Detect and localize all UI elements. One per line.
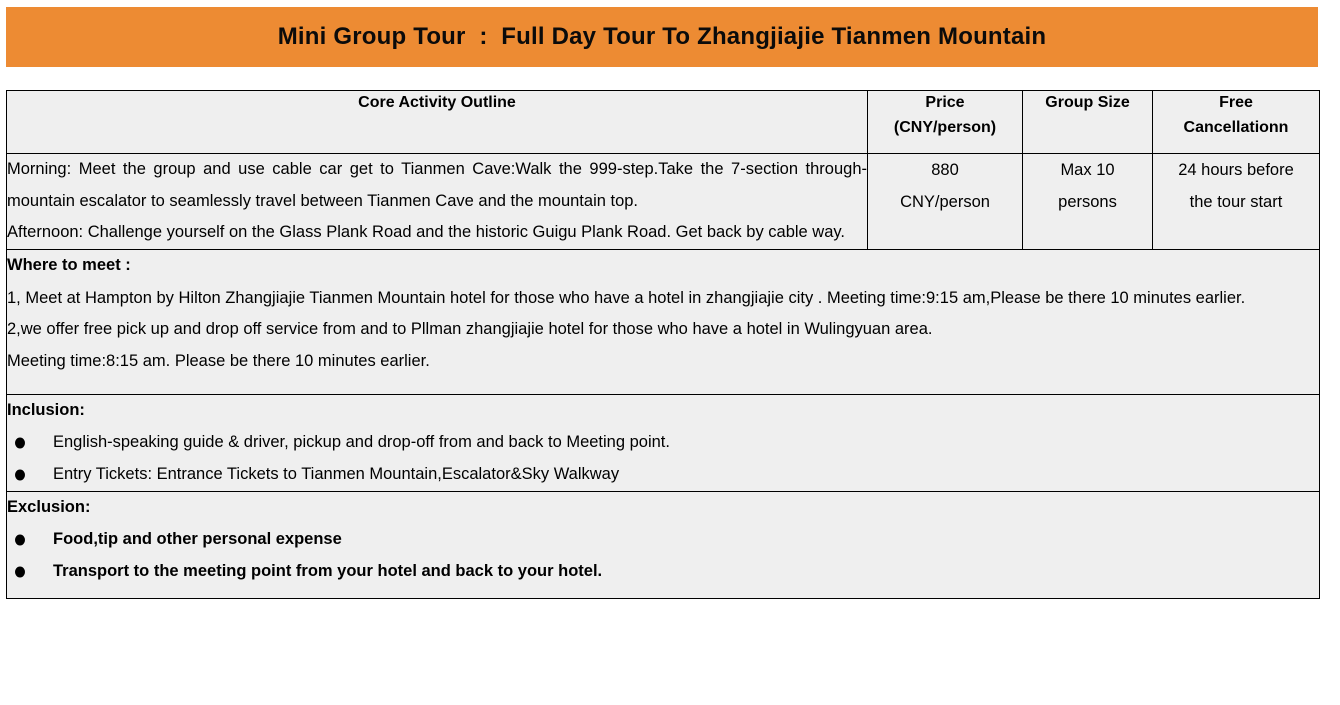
cell-where-to-meet: Where to meet : 1, Meet at Hampton by Hi…: [7, 250, 1320, 395]
cell-core-activity-outline: Morning: Meet the group and use cable ca…: [7, 154, 868, 250]
exclusion-row: Exclusion: Food,tip and other personal e…: [7, 491, 1320, 598]
page-title: Mini Group Tour : Full Day Tour To Zhang…: [278, 23, 1047, 51]
header-price: Price (CNY/person): [868, 91, 1023, 154]
inclusion-title: Inclusion:: [7, 395, 1319, 426]
cell-group-size: Max 10 persons: [1023, 154, 1153, 250]
header-free-cancellation: Free Cancellationn: [1153, 91, 1320, 154]
cell-price: 880 CNY/person: [868, 154, 1023, 250]
itinerary-afternoon: Afternoon: Challenge yourself on the Gla…: [7, 217, 867, 249]
list-item: Entry Tickets: Entrance Tickets to Tianm…: [7, 459, 1319, 491]
list-item: Food,tip and other personal expense: [7, 524, 1319, 556]
table-header-row: Core Activity Outline Price (CNY/person)…: [7, 91, 1320, 154]
header-core-activity-outline: Core Activity Outline: [7, 91, 868, 154]
inclusion-list: English-speaking guide & driver, pickup …: [7, 427, 1319, 491]
inclusion-row: Inclusion: English-speaking guide & driv…: [7, 394, 1320, 491]
header-group-size: Group Size: [1023, 91, 1153, 154]
inclusion-item-text: Entry Tickets: Entrance Tickets to Tianm…: [53, 465, 619, 483]
tour-details-table: Core Activity Outline Price (CNY/person)…: [6, 90, 1320, 599]
table-row: Morning: Meet the group and use cable ca…: [7, 154, 1320, 250]
where-to-meet-line-3: Meeting time:8:15 am. Please be there 10…: [7, 346, 1319, 378]
where-to-meet-line-1: 1, Meet at Hampton by Hilton Zhangjiajie…: [7, 283, 1319, 315]
cancellation-line2: the tour start: [1153, 186, 1319, 218]
header-price-line2: (CNY/person): [868, 116, 1022, 141]
list-item: Transport to the meeting point from your…: [7, 556, 1319, 588]
exclusion-item-text: Food,tip and other personal expense: [53, 530, 342, 548]
bullet-icon: [15, 535, 25, 546]
bullet-icon: [15, 469, 25, 480]
cell-free-cancellation: 24 hours before the tour start: [1153, 154, 1320, 250]
where-to-meet-line-2: 2,we offer free pick up and drop off ser…: [7, 314, 1319, 346]
price-value: 880: [868, 154, 1022, 186]
cell-inclusion: Inclusion: English-speaking guide & driv…: [7, 394, 1320, 491]
group-size-line2: persons: [1023, 186, 1152, 218]
tour-info-sheet: Mini Group Tour : Full Day Tour To Zhang…: [0, 0, 1340, 705]
bullet-icon: [15, 437, 25, 448]
exclusion-list: Food,tip and other personal expense Tran…: [7, 524, 1319, 588]
title-banner: Mini Group Tour : Full Day Tour To Zhang…: [6, 7, 1318, 67]
header-cancellation-line1: Free: [1153, 91, 1319, 116]
header-cancellation-line2: Cancellationn: [1153, 116, 1319, 141]
group-size-line1: Max 10: [1023, 154, 1152, 186]
price-unit: CNY/person: [868, 186, 1022, 218]
exclusion-item-text: Transport to the meeting point from your…: [53, 562, 602, 580]
list-item: English-speaking guide & driver, pickup …: [7, 427, 1319, 459]
where-to-meet-spacer: [7, 378, 1319, 394]
bullet-icon: [15, 567, 25, 578]
where-to-meet-row: Where to meet : 1, Meet at Hampton by Hi…: [7, 250, 1320, 395]
header-price-line1: Price: [868, 91, 1022, 116]
inclusion-item-text: English-speaking guide & driver, pickup …: [53, 433, 670, 451]
itinerary-morning: Morning: Meet the group and use cable ca…: [7, 154, 867, 217]
exclusion-title: Exclusion:: [7, 492, 1319, 523]
cancellation-line1: 24 hours before: [1153, 154, 1319, 186]
where-to-meet-title: Where to meet :: [7, 250, 1319, 281]
cell-exclusion: Exclusion: Food,tip and other personal e…: [7, 491, 1320, 598]
